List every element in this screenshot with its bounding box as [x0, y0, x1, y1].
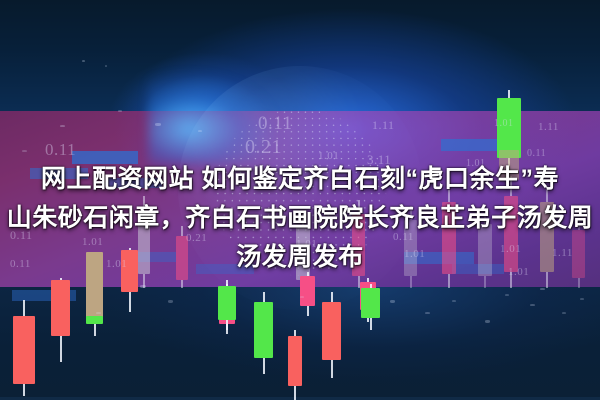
speck	[105, 65, 107, 67]
floating-number: 0.11	[527, 148, 546, 159]
banner-headline: 网上配资网站 如何鉴定齐白石刻“虎口余生”寿 山朱砂石闲章，齐白石书画院院长齐良…	[0, 160, 600, 277]
speck	[390, 300, 395, 303]
headline-line-1: 网上配资网站 如何鉴定齐白石刻“虎口余生”寿	[0, 160, 600, 199]
speck	[300, 296, 304, 298]
speck	[96, 312, 101, 314]
speck	[140, 285, 146, 288]
speck	[530, 304, 535, 306]
chart-candle-down	[288, 330, 302, 400]
speck	[580, 298, 584, 300]
speck	[168, 300, 173, 303]
speck	[540, 288, 545, 290]
floating-number: 1.01	[494, 118, 514, 129]
chart-candle-up	[254, 292, 273, 374]
chart-candle-down	[13, 300, 35, 396]
speck	[505, 294, 509, 296]
chart-candle-down	[51, 278, 70, 362]
floating-number: 0.21	[245, 136, 282, 159]
floating-number: 0.11	[258, 113, 293, 135]
speck	[562, 312, 566, 314]
banner-image: 0.110.110.211.111.013.111.011.110.111.01…	[0, 0, 600, 400]
speck	[22, 150, 27, 152]
speck	[425, 312, 430, 314]
speck	[452, 300, 456, 302]
speck	[198, 130, 202, 132]
chart-candle-up	[86, 316, 103, 326]
chart-candle-up	[218, 284, 236, 334]
floating-number: 1.11	[372, 118, 395, 133]
speck	[60, 125, 65, 127]
headline-line-2: 山朱砂石闲章，齐白石书画院院长齐良芷弟子汤发周	[0, 199, 600, 238]
floating-number: 0.11	[45, 140, 76, 160]
speck	[82, 60, 85, 62]
speck	[118, 110, 122, 112]
chart-candle-down	[322, 292, 341, 378]
chart-candle-up	[361, 284, 380, 330]
chart-candle-down	[300, 272, 315, 316]
floating-number: 1.11	[538, 121, 559, 133]
headline-line-3: 汤发周发布	[0, 238, 600, 277]
speck	[485, 320, 490, 323]
speck	[155, 123, 161, 126]
